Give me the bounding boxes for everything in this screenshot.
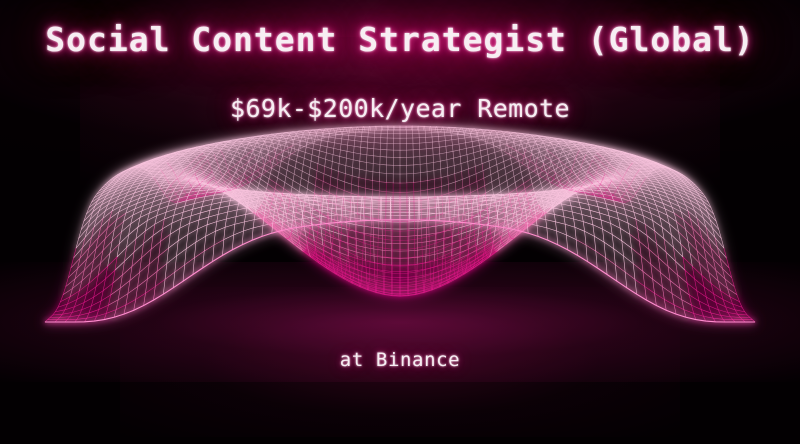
wireframe-mesh-svg: [0, 0, 800, 444]
vignette-overlay: [0, 0, 800, 444]
mesh-inner-glow-layer: [45, 126, 755, 322]
subline-glow-halo: [80, 37, 720, 187]
job-title: Social Content Strategist (Global): [0, 20, 800, 59]
company-name: at Binance: [0, 349, 800, 371]
wireframe-terrain-graphic: [0, 0, 800, 444]
mesh-outer-glow-layer: [45, 126, 755, 322]
footline-glow-halo: [120, 287, 680, 437]
mesh-core-lines-layer: [45, 126, 755, 322]
headline-glow-halo: [0, 0, 800, 151]
floor-bloom: [0, 262, 800, 382]
synthwave-job-card: Social Content Strategist (Global) $69k-…: [0, 0, 800, 444]
salary-and-location: $69k-$200k/year Remote: [0, 94, 800, 123]
